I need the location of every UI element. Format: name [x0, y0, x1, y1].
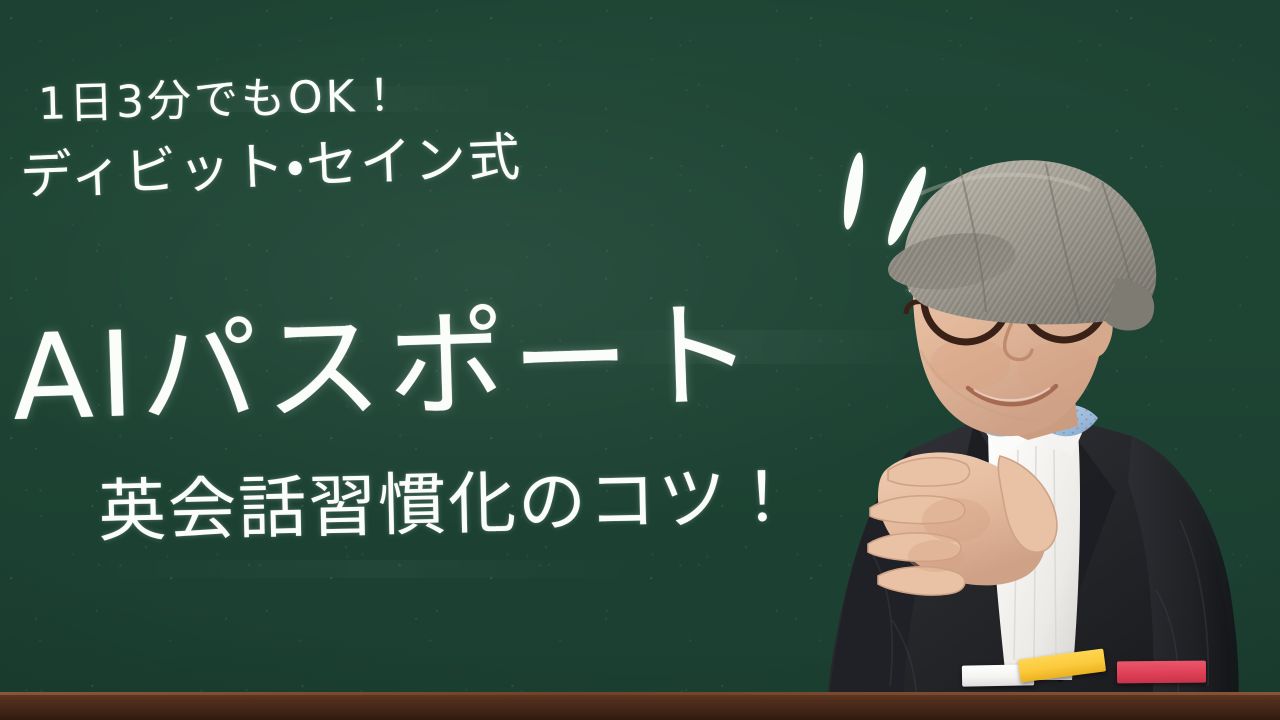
presenter-photo — [760, 120, 1280, 720]
chalk-stick-red — [1117, 661, 1206, 684]
chalkboard-ledge — [0, 692, 1280, 720]
thumbnail-canvas: 1日3分でもOK！ ディビット・セイン式 AIパスポート 英会話習慣化のコツ！ — [0, 0, 1280, 720]
bottom-tagline: 英会話習慣化のコツ！ — [97, 441, 799, 555]
hand-on-chest — [868, 452, 1057, 595]
flat-cap — [888, 160, 1156, 330]
main-title: AIパスポート — [9, 259, 762, 453]
ledge-wood-grain — [0, 692, 1280, 720]
